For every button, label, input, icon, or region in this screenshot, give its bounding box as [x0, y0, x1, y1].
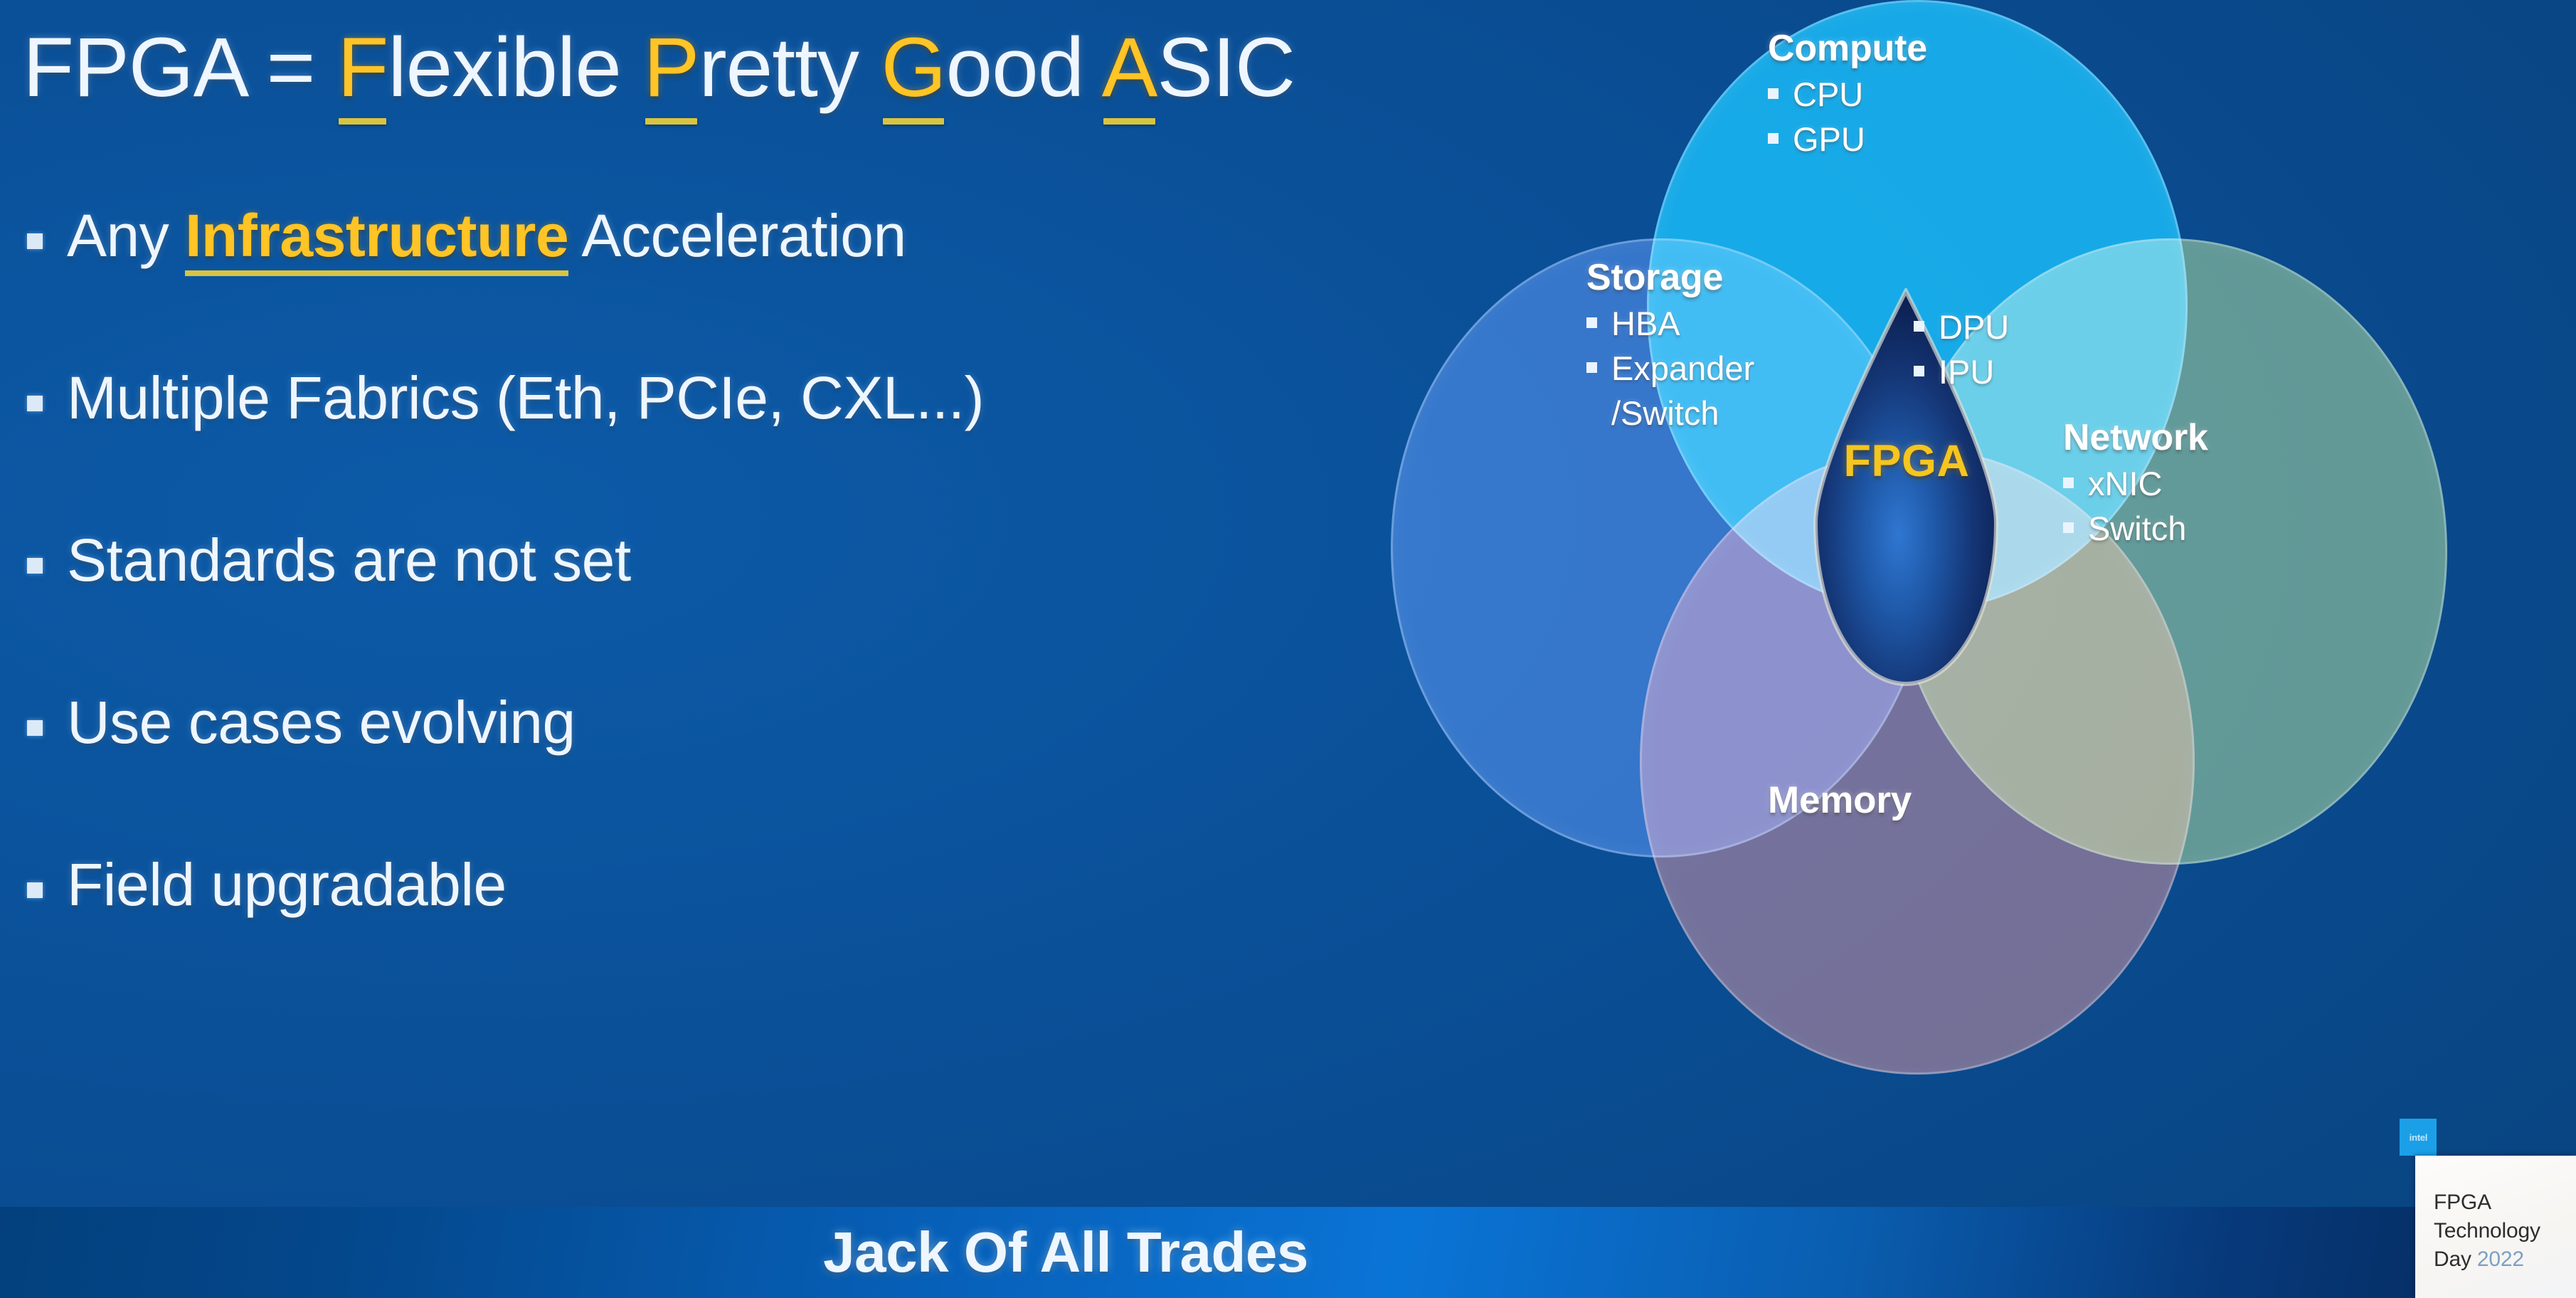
- bullet-0-pre: Any: [67, 202, 185, 269]
- venn-label-storage: Storage HBA Expander/Switch: [1586, 256, 1754, 436]
- venn-items-storage: HBA Expander/Switch: [1586, 302, 1754, 436]
- bullet-square-icon: [1914, 321, 1924, 332]
- title-rest-good: ood: [945, 21, 1101, 115]
- slide-canvas: FPGA = Flexible Pretty Good ASIC Any Inf…: [0, 0, 2576, 1298]
- intel-logo-text: intel: [2409, 1131, 2427, 1142]
- list-item: IPU: [1914, 350, 2009, 395]
- bullet-3-text: Use cases evolving: [67, 689, 576, 756]
- list-item: Use cases evolving: [27, 690, 1364, 852]
- venn-center-label: FPGA: [1825, 436, 1988, 487]
- venn-label-compute-network-overlap: DPU IPU: [1914, 302, 2009, 395]
- venn-diagram: FPGA Compute CPU GPU Storage HBA: [1352, 0, 2576, 1046]
- intel-logo-icon: intel: [2400, 1119, 2437, 1156]
- event-day-label: Day: [2434, 1247, 2477, 1271]
- event-line-technology: Technology: [2434, 1217, 2576, 1245]
- list-item: Expander/Switch: [1586, 347, 1754, 436]
- list-item: Field upgradable: [27, 852, 1364, 1014]
- venn-heading-network: Network: [2063, 416, 2208, 459]
- list-item: Switch: [2063, 507, 2208, 552]
- banner-text: Jack Of All Trades: [823, 1220, 1308, 1285]
- list-item: GPU: [1768, 117, 1927, 162]
- bullet-1-text: Multiple Fabrics (Eth, PCIe, CXL...): [67, 364, 984, 431]
- venn-label-network: Network xNIC Switch: [2063, 416, 2208, 552]
- title-rest-asic: SIC: [1157, 21, 1295, 115]
- list-item: Standards are not set: [27, 527, 1364, 690]
- list-item: HBA: [1586, 302, 1754, 347]
- bullet-4-text: Field upgradable: [67, 851, 507, 918]
- venn-items-overlap: DPU IPU: [1914, 305, 2009, 395]
- event-line-day-year: Day 2022: [2434, 1245, 2576, 1274]
- bullet-text: Standards are not set: [67, 527, 631, 593]
- bullet-square-icon: [1914, 366, 1924, 376]
- bullet-square-icon: [1586, 317, 1597, 328]
- venn-heading-storage: Storage: [1586, 256, 1754, 299]
- list-item: Any Infrastructure Acceleration: [27, 203, 1364, 365]
- venn-item-xnic: xNIC: [2088, 462, 2162, 507]
- bullet-square-icon: [27, 233, 43, 249]
- venn-item-switch: Switch: [2088, 507, 2186, 552]
- title-rest-flexible: lexible: [388, 21, 643, 115]
- bullet-text: Field upgradable: [67, 852, 507, 917]
- bullet-2-text: Standards are not set: [67, 527, 631, 593]
- venn-items-compute: CPU GPU: [1768, 73, 1927, 162]
- bullet-square-icon: [27, 558, 43, 574]
- bullet-0-post: Acceleration: [568, 202, 906, 269]
- title-highlight-p: P: [644, 21, 699, 115]
- venn-heading-memory: Memory: [1768, 779, 1912, 822]
- venn-item-gpu: GPU: [1793, 117, 1865, 162]
- bottom-banner: Jack Of All Trades: [0, 1207, 2416, 1298]
- event-badge-card: FPGA Technology Day 2022: [2415, 1156, 2576, 1298]
- title-highlight-g: G: [881, 21, 946, 115]
- list-item: xNIC: [2063, 462, 2208, 507]
- bullet-0-emphasis: Infrastructure: [185, 202, 568, 269]
- event-year: 2022: [2477, 1247, 2524, 1271]
- title-highlight-a: A: [1102, 21, 1157, 115]
- venn-item-ipu: IPU: [1939, 350, 1994, 395]
- venn-heading-compute: Compute: [1768, 27, 1927, 70]
- list-item: DPU: [1914, 305, 2009, 350]
- bullet-square-icon: [2063, 477, 2074, 488]
- bullet-square-icon: [1768, 133, 1779, 144]
- venn-item-dpu: DPU: [1939, 305, 2009, 350]
- event-line-fpga: FPGA: [2434, 1188, 2576, 1217]
- bullet-square-icon: [27, 882, 43, 898]
- bullet-text: Use cases evolving: [67, 690, 576, 755]
- venn-item-hba: HBA: [1611, 302, 1680, 347]
- bullet-list: Any Infrastructure Acceleration Multiple…: [27, 203, 1364, 1014]
- venn-item-expander: Expander/Switch: [1611, 347, 1754, 436]
- venn-label-memory: Memory: [1768, 779, 1912, 822]
- list-item: CPU: [1768, 73, 1927, 117]
- title-prefix: FPGA =: [23, 21, 337, 115]
- bullet-text: Multiple Fabrics (Eth, PCIe, CXL...): [67, 365, 984, 431]
- bullet-square-icon: [1768, 88, 1779, 99]
- bullet-square-icon: [2063, 522, 2074, 533]
- venn-label-compute: Compute CPU GPU: [1768, 27, 1927, 162]
- bullet-square-icon: [27, 396, 43, 411]
- venn-item-cpu: CPU: [1793, 73, 1863, 117]
- bullet-text: Any Infrastructure Acceleration: [67, 203, 906, 268]
- page-title: FPGA = Flexible Pretty Good ASIC: [23, 24, 1295, 112]
- title-highlight-f: F: [337, 21, 388, 115]
- venn-items-network: xNIC Switch: [2063, 462, 2208, 552]
- title-rest-pretty: retty: [699, 21, 881, 115]
- list-item: Multiple Fabrics (Eth, PCIe, CXL...): [27, 365, 1364, 527]
- bullet-square-icon: [1586, 362, 1597, 373]
- bullet-square-icon: [27, 720, 43, 736]
- slide-left-content: FPGA = Flexible Pretty Good ASIC Any Inf…: [0, 0, 1394, 1210]
